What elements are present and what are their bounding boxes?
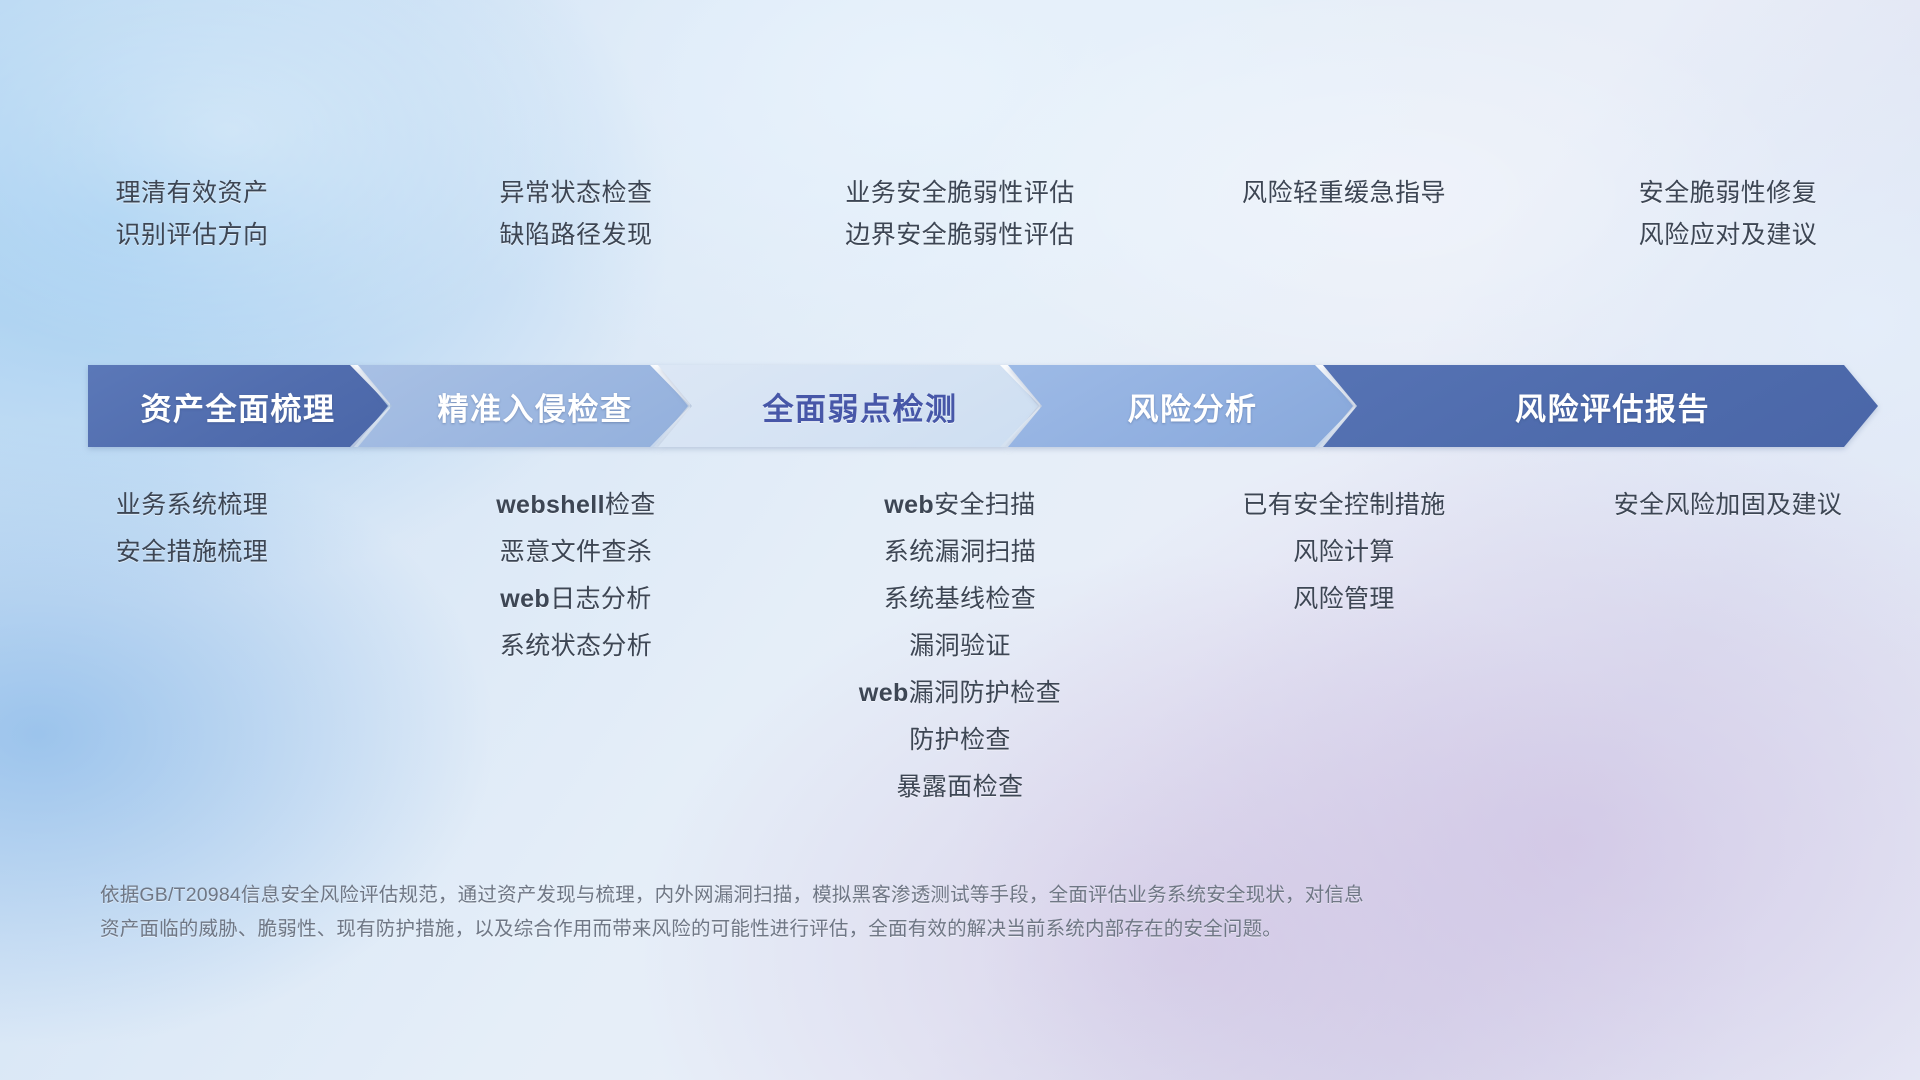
bottom-column-1: 业务系统梳理安全措施梳理 — [0, 490, 384, 700]
slide-canvas: 理清有效资产 识别评估方向 异常状态检查 缺陷路径发现 业务安全脆弱性评估 边界… — [0, 0, 1920, 1080]
bottom-item: web日志分析 — [500, 584, 651, 614]
bottom-item: 安全措施梳理 — [116, 537, 268, 567]
stage-title: 资产全面梳理 — [141, 384, 336, 429]
footer-line: 依据GB/T20984信息安全风险评估规范，通过资产发现与梳理，内外网漏洞扫描，… — [100, 878, 1660, 912]
stage-title: 风险分析 — [1104, 384, 1258, 429]
top-column-2: 异常状态检查 缺陷路径发现 — [384, 178, 768, 288]
top-column-4: 风险轻重缓急指导 — [1152, 178, 1536, 288]
top-item: 边界安全脆弱性评估 — [845, 220, 1075, 250]
bottom-item: 风险管理 — [1293, 584, 1395, 614]
top-column-5: 安全脆弱性修复 风险应对及建议 — [1536, 178, 1920, 288]
bottom-item: 系统基线检查 — [884, 584, 1036, 614]
stage-title: 风险评估报告 — [1491, 384, 1710, 429]
process-chevron-band: 资产全面梳理 精准入侵检查 全面弱点检测 风险分析 风险评估报告 — [88, 365, 1848, 447]
top-item: 异常状态检查 — [499, 178, 652, 208]
bottom-item: 安全风险加固及建议 — [1614, 490, 1843, 520]
stage-chevron-5[interactable]: 风险评估报告 — [1323, 365, 1878, 447]
footer-description: 依据GB/T20984信息安全风险评估规范，通过资产发现与梳理，内外网漏洞扫描，… — [100, 878, 1660, 946]
bottom-item: 系统状态分析 — [500, 631, 652, 661]
bottom-column-5: 安全风险加固及建议 — [1536, 490, 1920, 700]
stage-chevron-3[interactable]: 全面弱点检测 — [658, 365, 1038, 447]
bottom-item: 恶意文件查杀 — [500, 537, 652, 567]
bottom-item: 暴露面检查 — [896, 772, 1023, 802]
bottom-lists-row: 业务系统梳理安全措施梳理 webshell检查恶意文件查杀web日志分析系统状态… — [0, 490, 1920, 700]
top-column-3: 业务安全脆弱性评估 边界安全脆弱性评估 — [768, 178, 1152, 288]
top-item: 风险应对及建议 — [1639, 220, 1818, 250]
bottom-item: 防护检查 — [909, 725, 1011, 755]
bottom-item: 业务系统梳理 — [116, 490, 268, 520]
top-column-1: 理清有效资产 识别评估方向 — [0, 178, 384, 288]
top-labels-row: 理清有效资产 识别评估方向 异常状态检查 缺陷路径发现 业务安全脆弱性评估 边界… — [0, 178, 1920, 288]
top-item: 安全脆弱性修复 — [1639, 178, 1818, 208]
top-item: 缺陷路径发现 — [499, 220, 652, 250]
bottom-item: webshell检查 — [496, 490, 656, 520]
bottom-item: 系统漏洞扫描 — [884, 537, 1036, 567]
bottom-item: 漏洞验证 — [909, 631, 1011, 661]
bottom-column-2: webshell检查恶意文件查杀web日志分析系统状态分析 — [384, 490, 768, 700]
stage-title: 全面弱点检测 — [739, 384, 958, 429]
bottom-column-3: web安全扫描系统漏洞扫描系统基线检查漏洞验证web漏洞防护检查防护检查暴露面检… — [768, 490, 1152, 700]
footer-line: 资产面临的威胁、脆弱性、现有防护措施，以及综合作用而带来风险的可能性进行评估，全… — [100, 912, 1660, 946]
stage-chevron-1[interactable]: 资产全面梳理 — [88, 365, 388, 447]
bottom-item: 已有安全控制措施 — [1242, 490, 1445, 520]
stage-chevron-4[interactable]: 风险分析 — [1008, 365, 1353, 447]
bottom-item: web安全扫描 — [884, 490, 1035, 520]
stage-chevron-2[interactable]: 精准入侵检查 — [358, 365, 688, 447]
bottom-item: 风险计算 — [1293, 537, 1395, 567]
top-item: 风险轻重缓急指导 — [1242, 178, 1446, 208]
bottom-column-4: 已有安全控制措施风险计算风险管理 — [1152, 490, 1536, 700]
top-item: 理清有效资产 — [115, 178, 268, 208]
bottom-item: web漏洞防护检查 — [859, 678, 1061, 708]
top-item: 业务安全脆弱性评估 — [845, 178, 1075, 208]
top-item: 识别评估方向 — [115, 220, 268, 250]
stage-title: 精准入侵检查 — [414, 384, 633, 429]
